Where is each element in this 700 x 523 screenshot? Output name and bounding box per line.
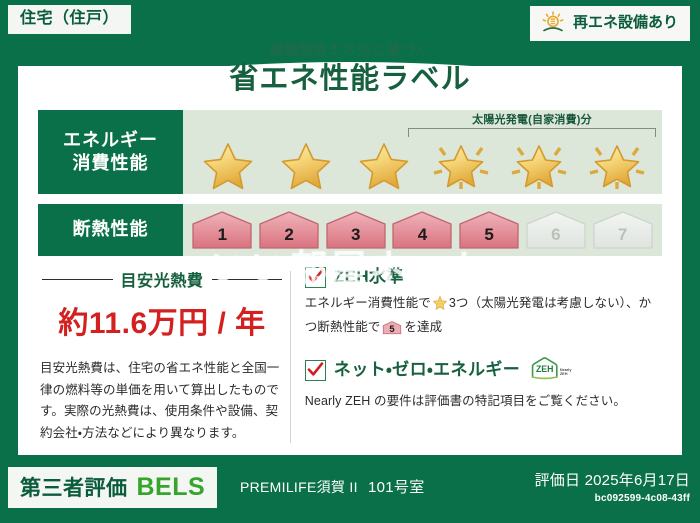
evaluation-date: 評価日 2025年6月17日 [535, 469, 690, 490]
zeh-standard-body: エネルギー消費性能で3つ（太陽光発電は考慮しない）、かつ断熱性能で5を達成 [305, 293, 662, 342]
zeh-body-text-3: を達成 [404, 320, 442, 334]
footer-band: 第三者評価 BELS PREMILIFE須賀 II 101号室 評価日 2025… [0, 455, 700, 523]
house-badge-icon-achieved: 5 [457, 210, 521, 250]
zeh-standard-title: ZEH水準 [334, 267, 404, 287]
label-body: エネルギー 消費性能 太陽光発電(自家消費)分 [18, 104, 682, 455]
svg-text:Nearly: Nearly [560, 368, 572, 372]
evaluation-info: 評価日 2025年6月17日 bc092599-4c08-43ff [535, 469, 690, 504]
zeh-body-text-1: エネルギー消費性能で [305, 296, 431, 310]
room-number: 101号室 [368, 476, 425, 497]
utility-cost-note: 目安光熱費は、住宅の省エネ性能と全国一律の燃料等の単価を用いて算出したものです。… [38, 358, 286, 444]
insulation-performance-label: 断熱性能 [38, 204, 183, 256]
checkmark-icon [305, 360, 326, 381]
energy-consumption-row: エネルギー 消費性能 太陽光発電(自家消費)分 [38, 110, 662, 194]
house-badge-icon: 3 [324, 210, 388, 250]
evaluation-date-value: 2025年6月17日 [585, 472, 690, 489]
house-badge-icon: 1 [190, 210, 254, 250]
inline-house-badge-icon: 5 [382, 324, 402, 338]
star-icon [353, 132, 415, 190]
star-icon-solar [508, 132, 570, 190]
insulation-level-scale: 1 2 3 [183, 204, 662, 256]
label-title: 省エネ性能ラベル [0, 61, 700, 97]
utility-cost-heading: 目安光熱費 [38, 267, 286, 291]
utility-cost-column: 目安光熱費 約11.6万円 / 年 目安光熱費は、住宅の省エネ性能と全国一律の燃… [38, 267, 286, 447]
bels-certification-plate: 第三者評価 BELS [8, 467, 217, 508]
house-badge-icon-inactive: 6 [524, 210, 588, 250]
renewable-badge-label: 再エネ設備あり [573, 14, 678, 31]
bels-logo-text: BELS [137, 473, 206, 502]
utility-cost-heading-text: 目安光熱費 [121, 267, 204, 291]
insulation-house-group: 1 2 3 [183, 204, 662, 256]
zeh-standard-block: ZEH水準 エネルギー消費性能で3つ（太陽光発電は考慮しない）、かつ断熱性能で5… [305, 267, 662, 342]
insulation-level-value: 3 [351, 225, 360, 250]
energy-star-scale: 太陽光発電(自家消費)分 [183, 110, 662, 194]
house-badge-icon: 4 [390, 210, 454, 250]
third-party-eval-label: 第三者評価 [20, 472, 128, 502]
net-zero-body: Nearly ZEH の要件は評価書の特記項目をご覧ください。 [305, 391, 662, 412]
evaluation-date-label: 評価日 [535, 472, 581, 489]
energy-performance-label: 住宅（住戸） 再エネ設備あり 建築物省エネ法に基づく 省エネ性能ラベル [0, 0, 700, 523]
star-icon [275, 132, 337, 190]
net-zero-title: ネット・ゼロ・エネルギー [334, 360, 520, 380]
insulation-performance-row: 断熱性能 [38, 204, 662, 256]
svg-text:ZEH: ZEH [536, 364, 553, 374]
insulation-level-value: 5 [484, 225, 493, 250]
insulation-level-value: 2 [284, 225, 293, 250]
heading-rule-left [42, 279, 113, 280]
svg-text:5: 5 [390, 324, 395, 334]
house-badge-icon-inactive: 7 [591, 210, 655, 250]
house-badge-icon: 2 [257, 210, 321, 250]
checkmark-icon [305, 267, 326, 288]
insulation-level-value: 6 [551, 225, 560, 250]
building-name: PREMILIFE須賀 II [240, 477, 358, 497]
inline-star-icon [432, 299, 448, 313]
heading-rule-right [212, 279, 283, 280]
label-title-group: 建築物省エネ法に基づく 省エネ性能ラベル [0, 42, 700, 97]
evaluation-id: bc092599-4c08-43ff [535, 493, 690, 504]
column-divider [290, 271, 291, 443]
star-rating-group [183, 132, 662, 190]
zeh-logo-icon: ZEH Nearly ZEH [528, 355, 572, 386]
star-icon-solar [430, 132, 492, 190]
energy-consumption-label: エネルギー 消費性能 [38, 110, 183, 194]
insulation-level-value: 1 [218, 225, 227, 250]
star-icon-solar [586, 132, 648, 190]
net-zero-heading: ネット・ゼロ・エネルギー ZEH Nearly ZEH [305, 355, 662, 386]
zeh-standard-heading: ZEH水準 [305, 267, 662, 288]
certification-column: ZEH水準 エネルギー消費性能で3つ（太陽光発電は考慮しない）、かつ断熱性能で5… [301, 267, 662, 447]
star-icon [197, 132, 259, 190]
solar-sun-icon [540, 11, 566, 35]
utility-cost-value: 約11.6万円 / 年 [38, 298, 286, 342]
svg-text:ZEH: ZEH [560, 372, 568, 376]
label-subtitle: 建築物省エネ法に基づく [0, 42, 700, 59]
housing-type-tag: 住宅（住戸） [8, 5, 131, 34]
net-zero-energy-block: ネット・ゼロ・エネルギー ZEH Nearly ZEH Nearly ZEH の… [305, 355, 662, 412]
insulation-level-value: 4 [418, 225, 427, 250]
solar-bracket-label: 太陽光発電(自家消費)分 [408, 114, 656, 126]
insulation-level-value: 7 [618, 225, 627, 250]
renewable-equipment-badge: 再エネ設備あり [530, 6, 690, 41]
lower-detail-section: 目安光熱費 約11.6万円 / 年 目安光熱費は、住宅の省エネ性能と全国一律の燃… [38, 267, 662, 447]
